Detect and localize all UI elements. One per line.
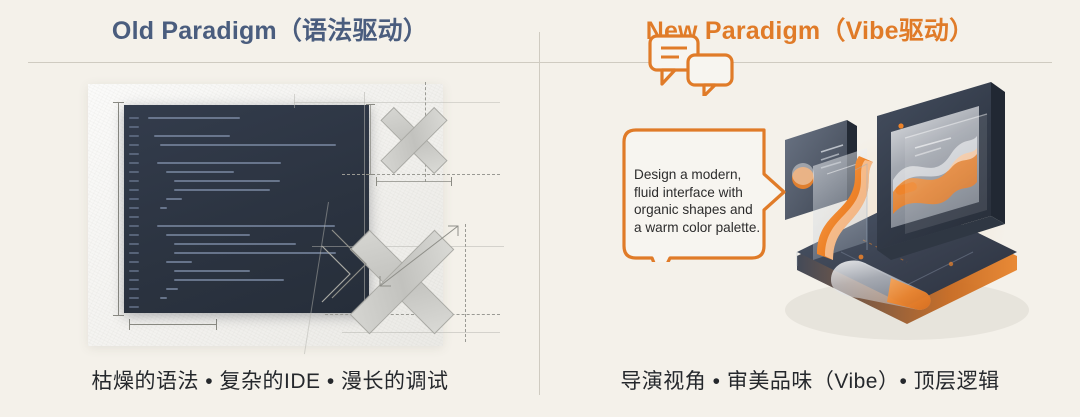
dimension-cap — [451, 177, 452, 186]
dimension-line-horizontal — [129, 324, 217, 325]
dimension-cap — [216, 319, 217, 330]
dimension-line-horizontal — [376, 181, 452, 182]
slide-canvas: Old Paradigm（语法驱动） New Paradigm（Vibe驱动） — [0, 0, 1080, 417]
dimension-cap — [129, 319, 130, 330]
left-panel-title: Old Paradigm（语法驱动） — [0, 14, 540, 48]
dimension-cap — [366, 174, 375, 175]
dimension-line-vertical — [370, 104, 371, 174]
right-panel-caption: 导演视角 • 审美品味（Vibe）• 顶层逻辑 — [540, 366, 1080, 398]
header-divider-horizontal — [28, 62, 1052, 63]
left-illustration — [80, 74, 500, 356]
right-panel-title: New Paradigm（Vibe驱动） — [540, 14, 1080, 48]
right-illustration: Design a modern, fluid interface with or… — [600, 74, 1060, 356]
left-panel-caption: 枯燥的语法 • 复杂的IDE • 漫长的调试 — [0, 366, 540, 398]
dimension-cap — [113, 315, 124, 316]
prompt-speech-bubble: Design a modern, fluid interface with or… — [612, 122, 794, 262]
prompt-text: Design a modern, fluid interface with or… — [634, 166, 784, 236]
chat-bubbles-icon — [648, 34, 734, 96]
dimension-cap — [366, 104, 375, 105]
dimension-cap — [376, 177, 377, 186]
dimension-cap — [113, 102, 124, 103]
panel-divider-vertical — [539, 32, 540, 395]
x-mark — [376, 102, 450, 176]
dimension-line-vertical — [118, 102, 119, 316]
arrow-guide-icon — [370, 216, 480, 326]
guide-line — [294, 94, 295, 108]
isometric-ui-scene — [755, 74, 1060, 356]
